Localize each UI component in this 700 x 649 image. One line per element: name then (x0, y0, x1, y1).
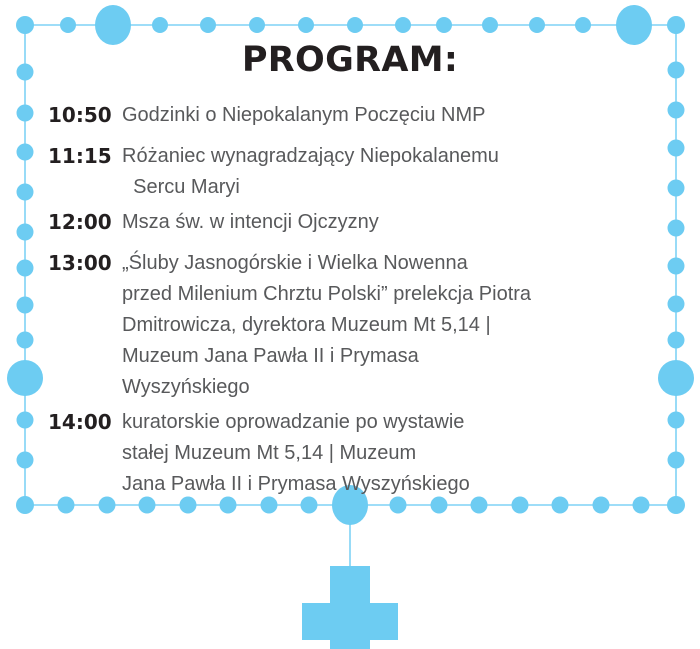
cross-icon (302, 566, 398, 649)
bead (395, 17, 411, 33)
rosary-beads-right (658, 62, 694, 515)
bead-corner-top-right (667, 16, 685, 34)
schedule-entry-description: „Śluby Jasnogórskie i Wielka Nowenna prz… (122, 248, 658, 403)
bead (668, 140, 685, 157)
schedule-entry-line: Muzeum Jana Pawła II i Prymasa (122, 341, 658, 372)
schedule-entry-line: stałej Muzeum Mt 5,14 | Muzeum (122, 438, 658, 469)
bead (668, 296, 685, 313)
bead (152, 17, 168, 33)
bead (668, 332, 685, 349)
bead-large (95, 5, 131, 45)
bead (17, 144, 34, 161)
schedule-entry-line: Sercu Maryi (122, 172, 658, 203)
schedule-entry: 12:00 Msza św. w intencji Ojczyzny (48, 207, 658, 238)
schedule-entry-description: Msza św. w intencji Ojczyzny (122, 207, 658, 238)
bead (668, 220, 685, 237)
program-schedule-list: 10:50 Godzinki o Niepokalanym Poczęciu N… (48, 100, 658, 510)
schedule-entry-line: Msza św. w intencji Ojczyzny (122, 207, 658, 238)
schedule-entry: 11:15 Różaniec wynagradzający Niepokalan… (48, 141, 658, 203)
bead (17, 452, 34, 469)
schedule-entry-line: „Śluby Jasnogórskie i Wielka Nowenna (122, 248, 658, 279)
schedule-entry: 10:50 Godzinki o Niepokalanym Poczęciu N… (48, 100, 658, 131)
bead (575, 17, 591, 33)
bead-large (658, 360, 694, 396)
bead (17, 332, 34, 349)
bead-large (7, 360, 43, 396)
bead (668, 452, 685, 469)
bead (200, 17, 216, 33)
bead (668, 180, 685, 197)
schedule-entry-time: 13:00 (48, 248, 122, 279)
bead (347, 17, 363, 33)
bead-corner-bottom-right (667, 496, 685, 514)
bead (17, 297, 34, 314)
schedule-entry-time: 12:00 (48, 207, 122, 238)
bead-corner-bottom-left (16, 496, 34, 514)
bead (17, 224, 34, 241)
schedule-entry: 14:00 kuratorskie oprowadzanie po wystaw… (48, 407, 658, 500)
schedule-entry-time: 11:15 (48, 141, 122, 172)
schedule-entry-description: kuratorskie oprowadzanie po wystawie sta… (122, 407, 658, 500)
schedule-entry-description: Godzinki o Niepokalanym Poczęciu NMP (122, 100, 658, 131)
rosary-beads-top (16, 5, 685, 45)
bead (668, 412, 685, 429)
bead (60, 17, 76, 33)
schedule-entry: 13:00 „Śluby Jasnogórskie i Wielka Nowen… (48, 248, 658, 403)
schedule-entry-line: przed Milenium Chrztu Polski” prelekcja … (122, 279, 658, 310)
bead (668, 258, 685, 275)
bead (17, 412, 34, 429)
schedule-entry-line: Dmitrowicza, dyrektora Muzeum Mt 5,14 | (122, 310, 658, 341)
schedule-entry-line: Jana Pawła II i Prymasa Wyszyńskiego (122, 469, 658, 500)
bead-corner-top-left (16, 16, 34, 34)
schedule-entry-line: Wyszyńskiego (122, 372, 658, 403)
bead (17, 184, 34, 201)
bead (17, 260, 34, 277)
schedule-entry-time: 14:00 (48, 407, 122, 438)
page-title: PROGRAM: (0, 40, 700, 80)
schedule-entry-line: Różaniec wynagradzający Niepokalanemu (122, 141, 658, 172)
bead (529, 17, 545, 33)
bead (436, 17, 452, 33)
bead (298, 17, 314, 33)
rosary-beads-left (7, 64, 43, 515)
bead (17, 105, 34, 122)
poster-canvas: PROGRAM: 10:50 Godzinki o Niepokalanym P… (0, 0, 700, 649)
bead (249, 17, 265, 33)
schedule-entry-line: kuratorskie oprowadzanie po wystawie (122, 407, 658, 438)
schedule-entry-description: Różaniec wynagradzający Niepokalanemu Se… (122, 141, 658, 203)
bead (668, 102, 685, 119)
schedule-entry-time: 10:50 (48, 100, 122, 131)
schedule-entry-line: Godzinki o Niepokalanym Poczęciu NMP (122, 100, 658, 131)
bead-large (616, 5, 652, 45)
bead (482, 17, 498, 33)
